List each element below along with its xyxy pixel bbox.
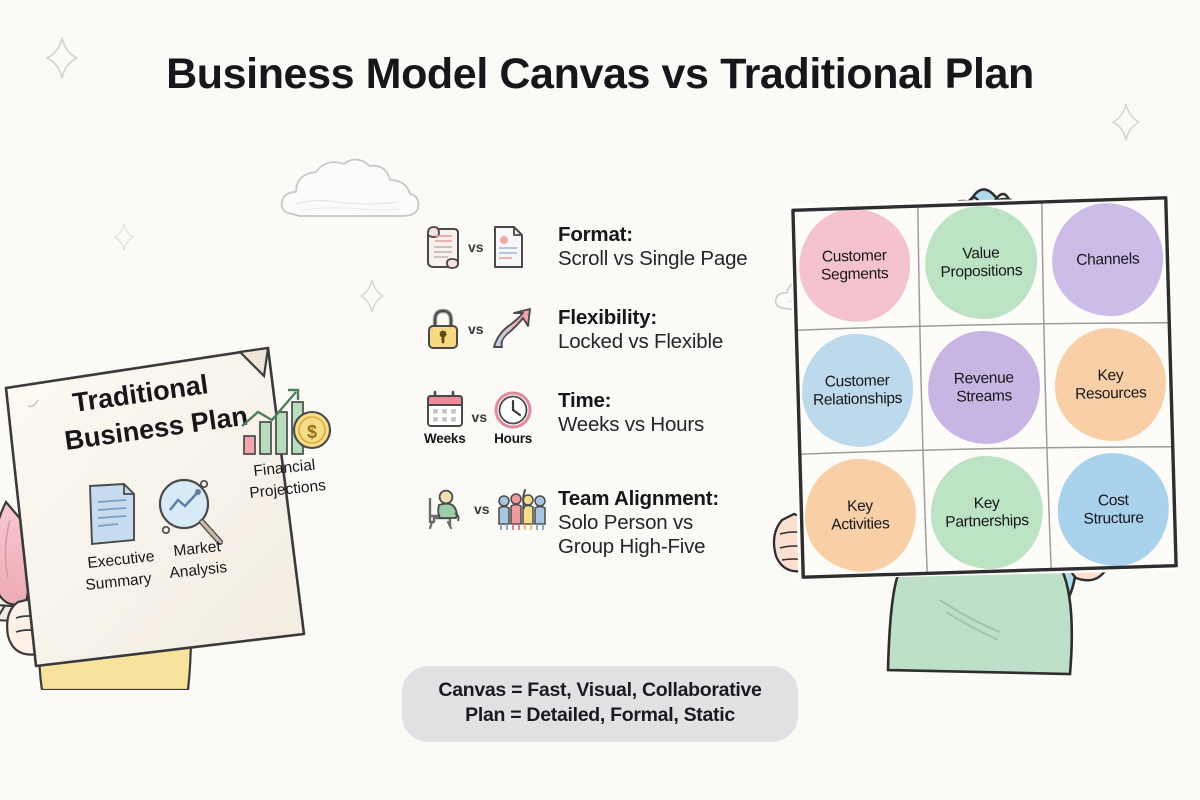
svg-text:$: $: [307, 422, 317, 442]
clock-icon: [493, 390, 533, 430]
vs-separator: vs: [470, 409, 490, 425]
comparison-row-text: Team Alignment: Solo Person vs Group Hig…: [552, 486, 719, 559]
cell-label: Value Propositions: [937, 244, 1025, 281]
canvas-cell-customer-segments[interactable]: Customer Segments: [790, 201, 919, 329]
scroll-icon: [424, 224, 462, 270]
canvas-cell-channels[interactable]: Channels: [1043, 196, 1172, 324]
comparison-row: vs: [424, 486, 794, 559]
comparison-value: Weeks vs Hours: [558, 413, 704, 437]
comparison-row: vs For: [424, 222, 794, 271]
scroll-icon-stack: [424, 224, 462, 271]
right-illustration: Customer Segments Value Propositions Cha…: [770, 150, 1200, 790]
cell-label: Key Partnerships: [942, 494, 1032, 531]
comparison-row-icons: vs: [424, 222, 552, 271]
padlock-icon: [424, 307, 462, 351]
icon-sublabel: Hours: [494, 431, 532, 446]
single-page-document-icon: [490, 224, 526, 270]
curved-up-arrow-icon: [490, 307, 534, 351]
comparison-row: Weeks vs Hours Time: Weeks vs Hours: [424, 388, 794, 446]
comparison-row-text: Flexibility: Locked vs Flexible: [552, 305, 723, 354]
page-title: Business Model Canvas vs Traditional Pla…: [0, 50, 1200, 99]
comparison-row-icons: vs: [424, 305, 552, 352]
canvas-grid: Customer Segments Value Propositions Cha…: [790, 196, 1178, 580]
executive-summary-icon: [90, 484, 134, 544]
comparison-value: Solo Person vs: [558, 511, 719, 535]
summary-line-plan: Plan = Detailed, Formal, Static: [420, 703, 780, 728]
group-of-people-icon-stack: [496, 488, 548, 533]
comparison-row-icons: Weeks vs Hours: [424, 388, 552, 446]
business-model-canvas-board: Customer Segments Value Propositions Cha…: [790, 196, 1178, 580]
summary-callout: Canvas = Fast, Visual, Collaborative Pla…: [402, 666, 798, 742]
canvas-cell-customer-relationships[interactable]: Customer Relationships: [793, 326, 922, 454]
comparison-list: vs For: [424, 222, 794, 559]
right-character-shirt: [888, 570, 1072, 674]
comparison-row: vs: [424, 305, 794, 354]
icon-sublabel: Weeks: [424, 431, 466, 446]
curved-up-arrow-icon-stack: [490, 307, 534, 352]
cell-label: Channels: [1073, 250, 1142, 269]
canvas-cell-key-resources[interactable]: Key Resources: [1046, 321, 1175, 449]
cell-label: Key Activities: [828, 497, 893, 534]
group-of-people-icon: [496, 488, 548, 532]
cell-label: Cost Structure: [1080, 491, 1147, 528]
infographic-canvas: Business Model Canvas vs Traditional Pla…: [0, 0, 1200, 800]
left-illustration: Traditional Business Plan: [0, 150, 382, 690]
canvas-cell-value-propositions[interactable]: Value Propositions: [916, 199, 1045, 327]
canvas-cell-cost-structure[interactable]: Cost Structure: [1049, 446, 1178, 574]
comparison-row-icons: vs: [424, 486, 552, 533]
comparison-value: Group High-Five: [558, 535, 719, 559]
seated-person-icon-stack: [424, 488, 468, 533]
comparison-label: Format:: [558, 223, 748, 247]
summary-line-canvas: Canvas = Fast, Visual, Collaborative: [420, 678, 780, 703]
vs-separator: vs: [466, 321, 486, 337]
comparison-value: Scroll vs Single Page: [558, 247, 748, 271]
vs-separator: vs: [472, 501, 492, 517]
cell-label: Customer Relationships: [809, 372, 905, 409]
comparison-row-text: Format: Scroll vs Single Page: [552, 222, 748, 271]
clock-icon-stack: Hours: [493, 390, 533, 446]
cell-label: Revenue Streams: [951, 369, 1018, 406]
vs-separator: vs: [466, 239, 486, 255]
single-page-document-icon-stack: [490, 224, 526, 271]
canvas-cell-key-partnerships[interactable]: Key Partnerships: [922, 449, 1051, 577]
cell-label: Customer Segments: [817, 247, 891, 284]
comparison-value: Locked vs Flexible: [558, 330, 723, 354]
comparison-label: Team Alignment:: [558, 487, 719, 511]
calendar-icon-stack: Weeks: [424, 390, 466, 446]
comparison-row-text: Time: Weeks vs Hours: [552, 388, 704, 437]
padlock-icon-stack: [424, 307, 462, 352]
sparkle-top-right-icon: [1110, 102, 1142, 142]
calendar-icon: [425, 390, 465, 430]
comparison-label: Flexibility:: [558, 306, 723, 330]
cell-label: Key Resources: [1072, 366, 1150, 403]
canvas-cell-key-activities[interactable]: Key Activities: [795, 451, 924, 579]
canvas-cell-revenue-streams[interactable]: Revenue Streams: [919, 324, 1048, 452]
seated-person-icon: [424, 488, 468, 532]
comparison-label: Time:: [558, 389, 704, 413]
